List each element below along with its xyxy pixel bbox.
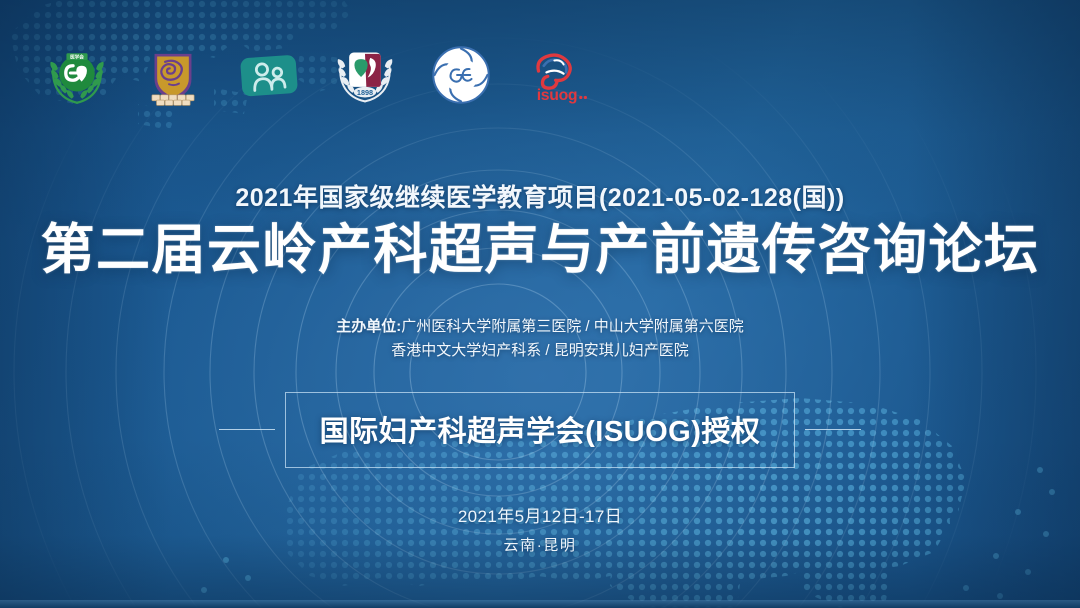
organizers-line-1: 主办单位:广州医科大学附属第三医院 / 中山大学附属第六医院 bbox=[0, 315, 1080, 338]
authorization-row: 国际妇产科超声学会(ISUOG)授权 bbox=[0, 392, 1080, 468]
teal-mother-child-logo bbox=[236, 42, 302, 108]
poster-content: 2021年国家级继续医学教育项目(2021-05-02-128(国)) 第二届云… bbox=[0, 178, 1080, 555]
cuhk-shield-logo bbox=[140, 42, 206, 108]
bottom-rule bbox=[0, 600, 1080, 608]
conference-poster: 医学会 bbox=[0, 0, 1080, 608]
authorization-dash-right bbox=[805, 429, 861, 430]
svg-text:医学会: 医学会 bbox=[70, 54, 84, 61]
wreath-1898-emblem-logo: 1898 bbox=[332, 42, 398, 108]
isuog-logo: isuog bbox=[524, 42, 590, 108]
organizers-block: 主办单位:广州医科大学附属第三医院 / 中山大学附属第六医院 香港中文大学妇产科… bbox=[0, 315, 1080, 362]
poster-headline: 第二届云岭产科超声与产前遗传咨询论坛 bbox=[0, 221, 1080, 279]
event-location: 云南·昆明 bbox=[0, 534, 1080, 555]
svg-text:isuog: isuog bbox=[537, 87, 578, 104]
program-kicker: 2021年国家级继续医学教育项目(2021-05-02-128(国)) bbox=[0, 178, 1080, 214]
organizers-lead-label: 主办单位: bbox=[336, 318, 401, 335]
event-meta: 2021年5月12日-17日 云南·昆明 bbox=[0, 502, 1080, 555]
authorization-box: 国际妇产科超声学会(ISUOG)授权 bbox=[285, 392, 796, 468]
ge-monogram-logo bbox=[428, 42, 494, 108]
authorization-dash-left bbox=[219, 429, 275, 430]
sponsor-logo-strip: 医学会 bbox=[44, 42, 590, 108]
event-date: 2021年5月12日-17日 bbox=[0, 502, 1080, 527]
organizers-line-1-text: 广州医科大学附属第三医院 / 中山大学附属第六医院 bbox=[401, 318, 744, 335]
svg-text:1898: 1898 bbox=[357, 88, 373, 97]
green-wreath-emblem-logo: 医学会 bbox=[44, 42, 110, 108]
organizers-line-2: 香港中文大学妇产科系 / 昆明安琪儿妇产医院 bbox=[0, 339, 1080, 362]
authorization-text: 国际妇产科超声学会(ISUOG)授权 bbox=[320, 408, 761, 450]
